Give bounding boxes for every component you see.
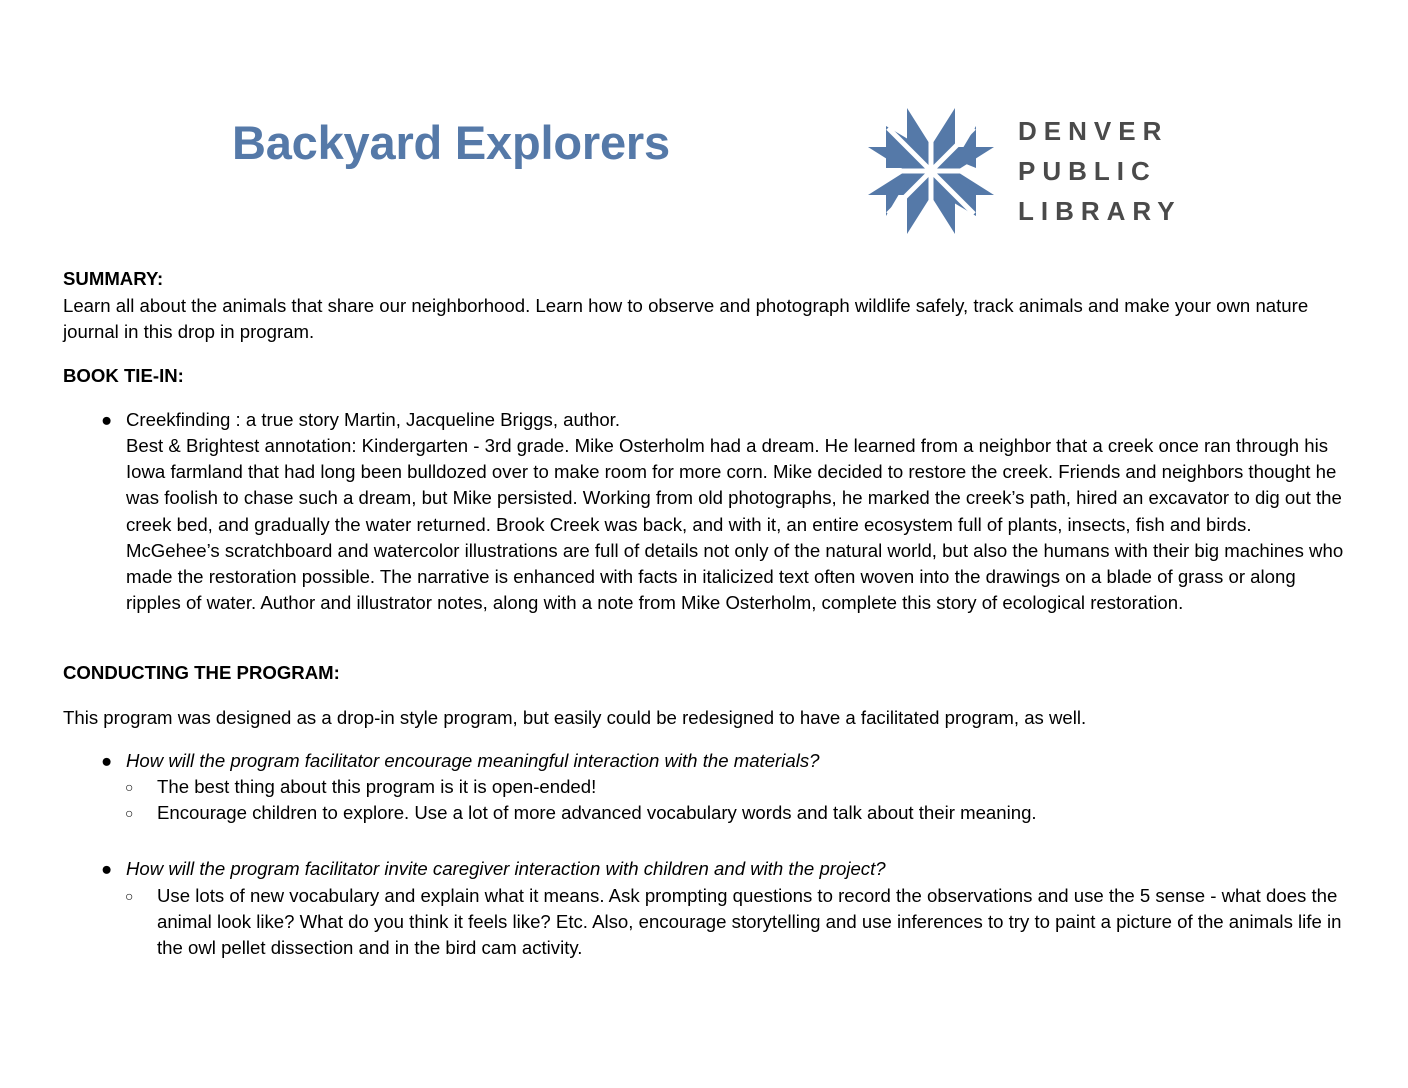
list-item: ● Creekfinding : a true story Martin, Ja… (101, 407, 1345, 617)
bullet-icon: ● (101, 748, 112, 774)
summary-body: Learn all about the animals that share o… (63, 293, 1345, 345)
conducting-question-list-2: ● How will the program facilitator invit… (63, 856, 1345, 882)
facilitator-question: How will the program facilitator encoura… (126, 748, 1345, 774)
facilitator-answer: Encourage children to explore. Use a lot… (157, 800, 1345, 826)
conducting-answer-list-1: ○ The best thing about this program is i… (63, 774, 1345, 826)
sub-bullet-icon: ○ (125, 800, 133, 826)
sub-bullet-icon: ○ (125, 883, 133, 909)
conducting-question-list-1: ● How will the program facilitator encou… (63, 748, 1345, 774)
conducting-answer-list-2: ○ Use lots of new vocabulary and explain… (63, 883, 1345, 962)
bullet-icon: ● (101, 407, 112, 433)
list-item: ● How will the program facilitator encou… (101, 748, 1345, 774)
logo-wordmark-line-public: PUBLIC (1018, 158, 1182, 184)
page-title: Backyard Explorers (232, 118, 670, 167)
document-page: Backyard Explorers (0, 0, 1408, 1088)
library-logo: DENVER PUBLIC LIBRARY (866, 106, 1182, 236)
conducting-heading: CONDUCTING THE PROGRAM: (63, 660, 1345, 686)
list-item: ○ Encourage children to explore. Use a l… (125, 800, 1345, 826)
book-tie-in-heading: BOOK TIE-IN: (63, 363, 1345, 389)
book-annotation: Best & Brightest annotation: Kindergarte… (126, 433, 1345, 616)
list-item: ○ Use lots of new vocabulary and explain… (125, 883, 1345, 962)
conducting-intro: This program was designed as a drop-in s… (63, 705, 1345, 731)
document-body: SUMMARY: Learn all about the animals tha… (63, 266, 1345, 961)
list-item: ● How will the program facilitator invit… (101, 856, 1345, 882)
list-item: ○ The best thing about this program is i… (125, 774, 1345, 800)
facilitator-question: How will the program facilitator invite … (126, 856, 1345, 882)
logo-wordmark-line-library: LIBRARY (1018, 198, 1182, 224)
sub-bullet-icon: ○ (125, 774, 133, 800)
facilitator-answer: Use lots of new vocabulary and explain w… (157, 883, 1345, 962)
facilitator-answer: The best thing about this program is it … (157, 774, 1345, 800)
book-title-line: Creekfinding : a true story Martin, Jacq… (126, 407, 1345, 433)
denver-public-library-star-logo-icon (866, 106, 996, 236)
summary-heading: SUMMARY: (63, 266, 1345, 292)
logo-wordmark-line-denver: DENVER (1018, 118, 1182, 144)
book-tie-in-list: ● Creekfinding : a true story Martin, Ja… (63, 407, 1345, 617)
logo-wordmark: DENVER PUBLIC LIBRARY (1018, 118, 1182, 224)
bullet-icon: ● (101, 856, 112, 882)
document-header: Backyard Explorers (0, 0, 1408, 250)
